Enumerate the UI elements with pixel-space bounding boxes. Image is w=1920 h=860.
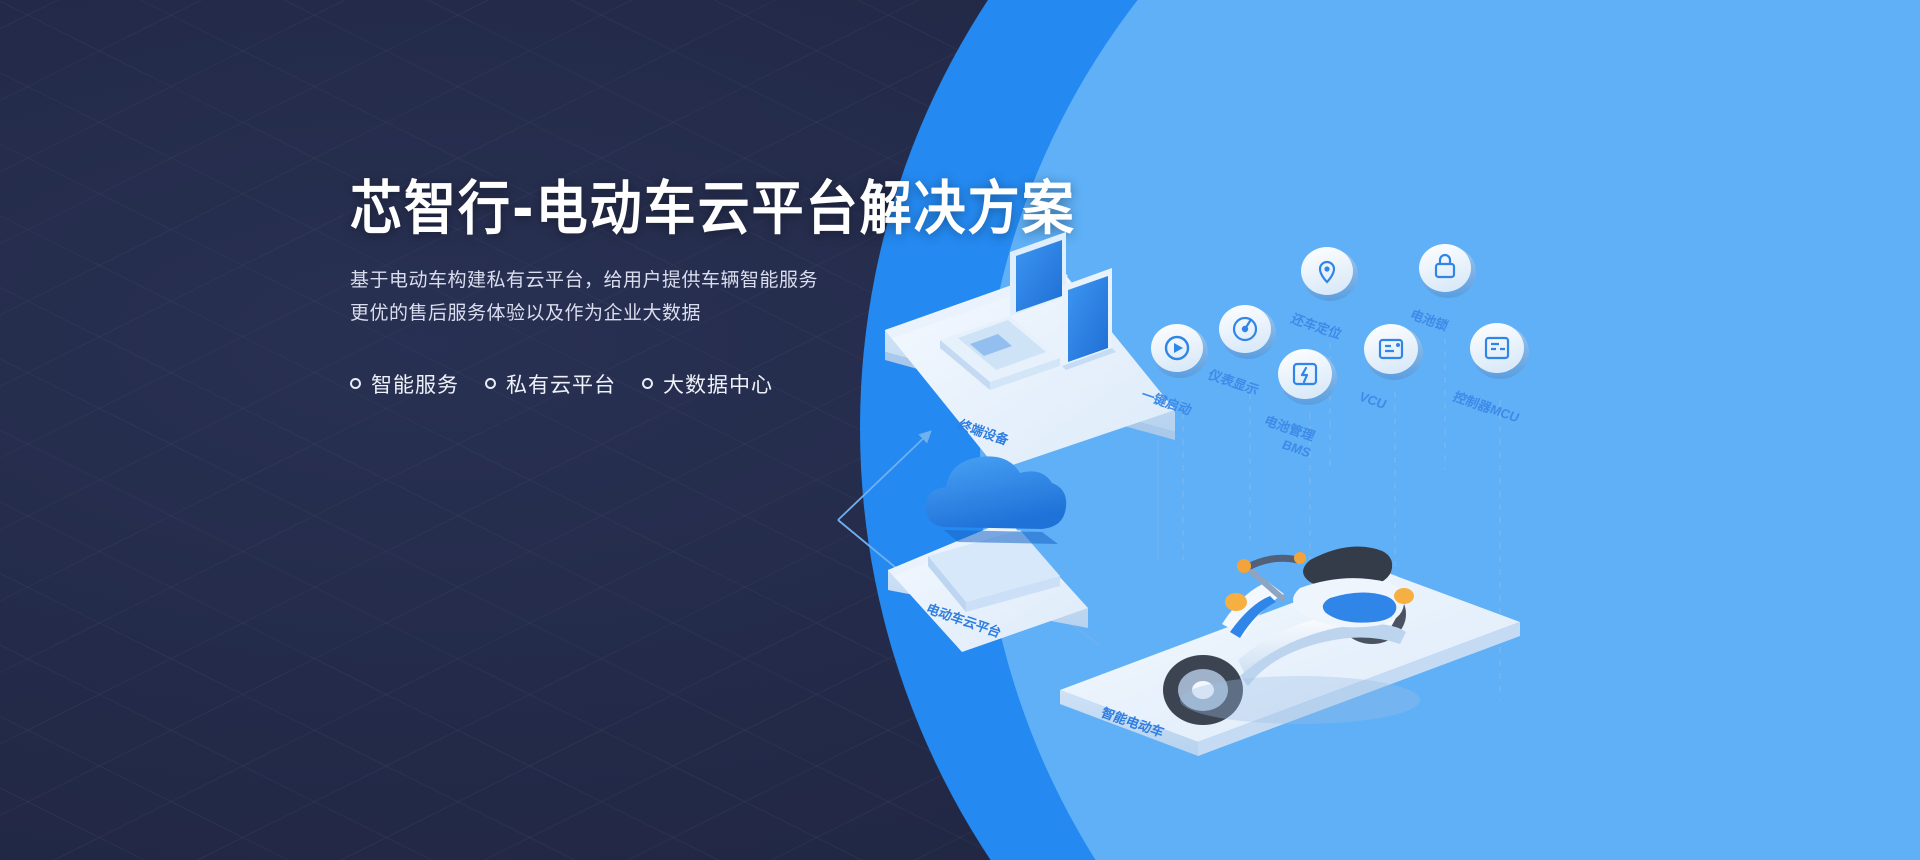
isometric-illustration: 终端设备 电动车云平台 (0, 0, 1920, 860)
feature-label: 仪表显示 (1205, 367, 1261, 398)
feature-node-battery-management[interactable]: 电池管理 BMS (1262, 349, 1337, 460)
smart-scooter-group: 智能电动车 (1060, 547, 1520, 761)
feature-label: 还车定位 (1288, 311, 1344, 342)
feature-node-controller-mcu[interactable]: 控制器MCU (1451, 323, 1529, 425)
electric-scooter-icon (1163, 547, 1420, 726)
feature-node-return-positioning[interactable]: 还车定位 (1288, 247, 1358, 342)
feature-node-vcu[interactable]: VCU (1357, 324, 1423, 412)
phone-icon (1062, 268, 1116, 370)
feature-node-one-key-start[interactable]: 一键启动 (1139, 324, 1208, 418)
feature-label: 控制器MCU (1451, 389, 1522, 425)
banner-root: 芯智行-电动车云平台解决方案 基于电动车构建私有云平台，给用户提供车辆智能服务 … (0, 0, 1920, 860)
feature-label: VCU (1357, 389, 1389, 412)
cloud-platform-group: 电动车云平台 (888, 456, 1088, 652)
feature-node-dashboard-display[interactable]: 仪表显示 (1205, 305, 1276, 398)
feature-node-battery-lock[interactable]: 电池锁 (1408, 244, 1476, 333)
feature-label: 电池锁 (1408, 307, 1451, 333)
